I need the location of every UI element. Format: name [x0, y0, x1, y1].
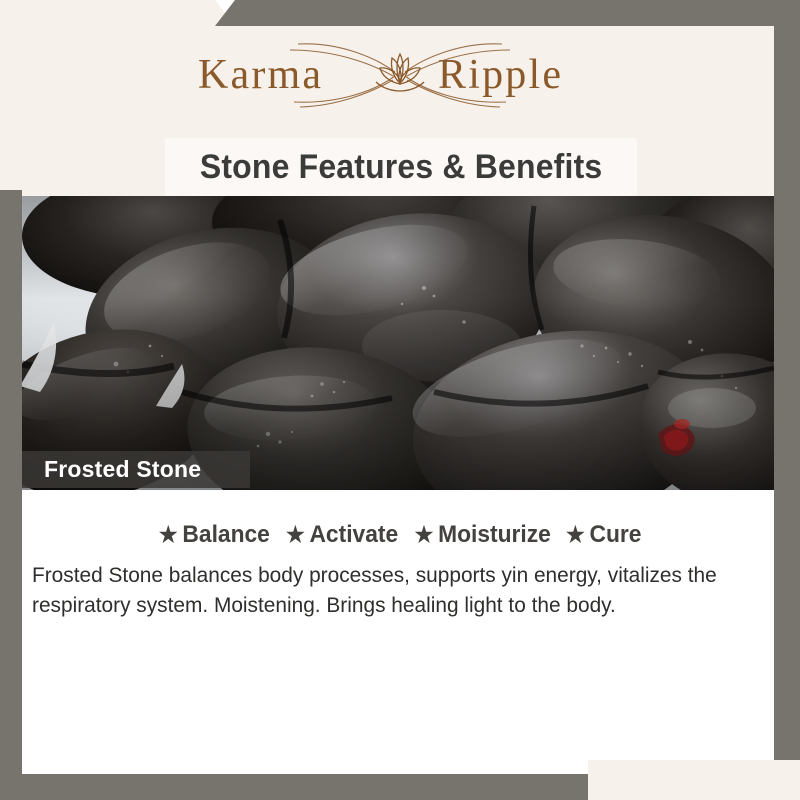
brand-logo: Karma Ripple	[0, 38, 800, 110]
star-icon: ★	[415, 524, 434, 546]
frame-border-top	[215, 0, 800, 26]
star-icon: ★	[566, 524, 585, 546]
frame-border-right	[774, 0, 800, 780]
benefit-item-1: ★ Activate	[286, 521, 398, 549]
benefit-label-0: Balance	[183, 521, 270, 549]
frame-border-left	[0, 190, 22, 780]
stone-photo-artwork	[22, 196, 774, 490]
page-title: Stone Features & Benefits	[200, 148, 603, 187]
brand-name-left: Karma	[198, 52, 323, 98]
frosted-stone-photo	[22, 196, 774, 490]
benefit-item-3: ★ Cure	[566, 521, 641, 549]
logo-artwork: Karma Ripple	[190, 38, 610, 110]
photo-caption-label: Frosted Stone	[22, 456, 201, 483]
footer-background-right	[588, 760, 800, 800]
title-band: Stone Features & Benefits	[165, 138, 637, 196]
description-text: Frosted Stone balances body processes, s…	[32, 560, 750, 620]
star-icon: ★	[159, 524, 178, 546]
brand-name-right: Ripple	[438, 52, 563, 98]
frame-border-bottom	[0, 774, 612, 800]
benefit-item-2: ★ Moisturize	[415, 521, 551, 549]
photo-caption-banner: Frosted Stone	[22, 451, 250, 488]
benefit-label-1: Activate	[309, 521, 398, 549]
benefits-list: ★ Balance ★ Activate ★ Moisturize ★ Cure	[0, 521, 800, 549]
star-icon: ★	[286, 524, 305, 546]
benefit-label-3: Cure	[590, 521, 642, 549]
infographic-card: Karma Ripple Stone Features & Benefits	[0, 0, 800, 800]
benefit-item-0: ★ Balance	[159, 521, 270, 549]
benefit-label-2: Moisturize	[438, 521, 551, 549]
